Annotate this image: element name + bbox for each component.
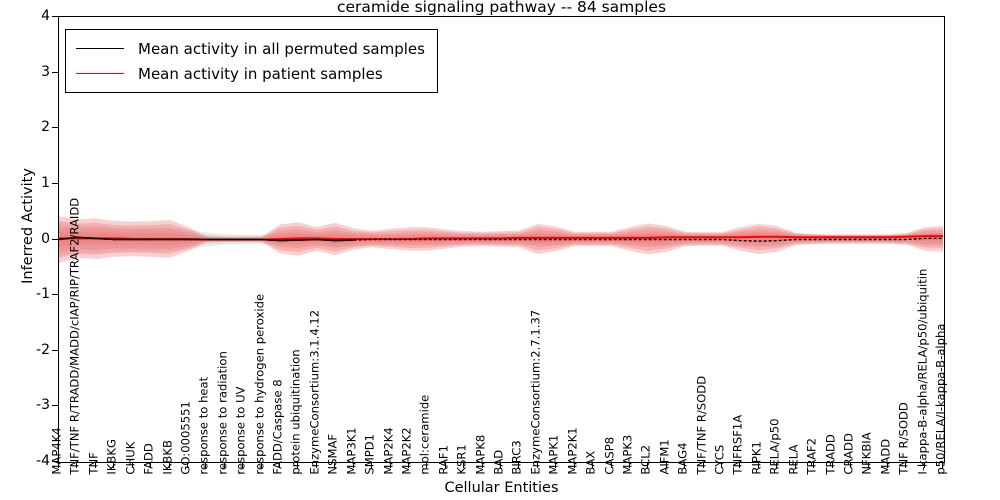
legend-entry-patient: Mean activity in patient samples	[76, 61, 425, 86]
x-tick-label: TRADD	[825, 434, 837, 474]
y-tick-label: -4	[36, 454, 50, 468]
x-tick-label: response to UV	[236, 387, 248, 475]
x-tick-label: p50/RELA/I-kappa-B-alpha	[935, 324, 947, 475]
x-tick-label: EnzymeConsortium:2.7.1.37	[530, 310, 542, 475]
x-axis-title: Cellular Entities	[58, 480, 945, 496]
x-tick-label: mol:ceramide	[420, 395, 432, 475]
x-tick-label: FADD/Caspase 8	[272, 379, 284, 474]
x-tick-label: AIFM1	[659, 439, 671, 474]
chart-title: ceramide signaling pathway -- 84 samples	[58, 0, 945, 15]
figure-canvas: ceramide signaling pathway -- 84 samples…	[0, 0, 1000, 500]
x-tick-label: BAD	[493, 450, 505, 475]
x-tick-label: FADD	[143, 443, 155, 474]
x-tick-label: RAF1	[438, 445, 450, 475]
x-tick-label: MAP4K4	[51, 427, 63, 474]
x-tick-label: GO:0005551	[180, 401, 192, 474]
x-tick-label: RELA	[788, 445, 800, 475]
x-tick-label: BIRC3	[512, 440, 524, 474]
x-tick-label: MAP2K4	[383, 427, 395, 474]
x-tick-label: TNF R/SODD	[899, 402, 911, 474]
plot-axes: Mean activity in all permuted samples Me…	[58, 16, 945, 463]
legend-swatch-patient	[76, 73, 124, 74]
chart-legend: Mean activity in all permuted samples Me…	[65, 29, 438, 93]
x-tick-label: CASP8	[604, 437, 616, 475]
x-tick-label: MAPK8	[475, 435, 487, 475]
x-tick-label: response to radiation	[217, 351, 229, 474]
legend-swatch-permuted	[76, 48, 124, 49]
x-tick-label: CHUK	[125, 442, 137, 475]
x-tick-label: IKBKG	[107, 439, 119, 475]
x-tick-label: TRAF2	[806, 438, 818, 475]
y-tick-label: 0	[41, 232, 50, 246]
y-axis-title: Inferred Activity	[20, 106, 36, 346]
x-tick-label: MAP2K2	[401, 427, 413, 474]
x-tick-label: MAPK1	[549, 435, 561, 475]
y-tick-label: 1	[41, 176, 50, 190]
x-tick-label: BAX	[585, 451, 597, 475]
x-tick-label: KSR1	[457, 444, 469, 474]
x-tick-label: MAP3K1	[346, 427, 358, 474]
x-tick-label: MAP2K1	[567, 427, 579, 474]
legend-label-patient: Mean activity in patient samples	[138, 65, 383, 83]
x-tick-label: MADD	[880, 439, 892, 475]
y-tick-label: 2	[41, 120, 50, 134]
x-tick-label: protein ubiquitination	[291, 349, 303, 474]
x-tick-label: EnzymeConsortium:3.1.4.12	[309, 310, 321, 475]
x-tick-label: CYCS	[714, 445, 726, 475]
x-tick-label: MAPK3	[622, 435, 634, 475]
legend-entry-permuted: Mean activity in all permuted samples	[76, 36, 425, 61]
x-tick-label: TNFRSF1A	[733, 415, 745, 475]
x-tick-label: TNF/TNF R/TRADD/MADD/cIAP/RIP/TRAF2/RAID…	[70, 198, 82, 475]
y-tick-label: -3	[36, 398, 50, 412]
y-tick-label: 3	[41, 65, 50, 79]
x-tick-label: I-kappa-B-alpha/RELA/p50/ubiquitin	[917, 269, 929, 475]
y-tick-label: 4	[41, 9, 50, 23]
x-tick-label: RIPK1	[751, 441, 763, 474]
x-tick-label: SMPD1	[364, 434, 376, 475]
x-tick-label: IKBKB	[162, 440, 174, 475]
y-tick-label: -2	[36, 343, 50, 357]
x-tick-label: TNF	[88, 452, 100, 474]
x-tick-label: NFKBIA	[862, 432, 874, 474]
y-tick-label: -1	[36, 287, 50, 301]
x-tick-label: BCL2	[641, 445, 653, 475]
legend-label-permuted: Mean activity in all permuted samples	[138, 40, 425, 58]
x-tick-label: NSMAF	[328, 434, 340, 475]
x-tick-label: RELA/p50	[770, 419, 782, 475]
x-tick-label: response to heat	[199, 377, 211, 475]
x-tick-label: CRADD	[843, 433, 855, 474]
x-tick-label: response to hydrogen peroxide	[254, 294, 266, 475]
x-tick-label: TNF/TNF R/SODD	[696, 376, 708, 475]
x-tick-label: BAG4	[678, 443, 690, 475]
